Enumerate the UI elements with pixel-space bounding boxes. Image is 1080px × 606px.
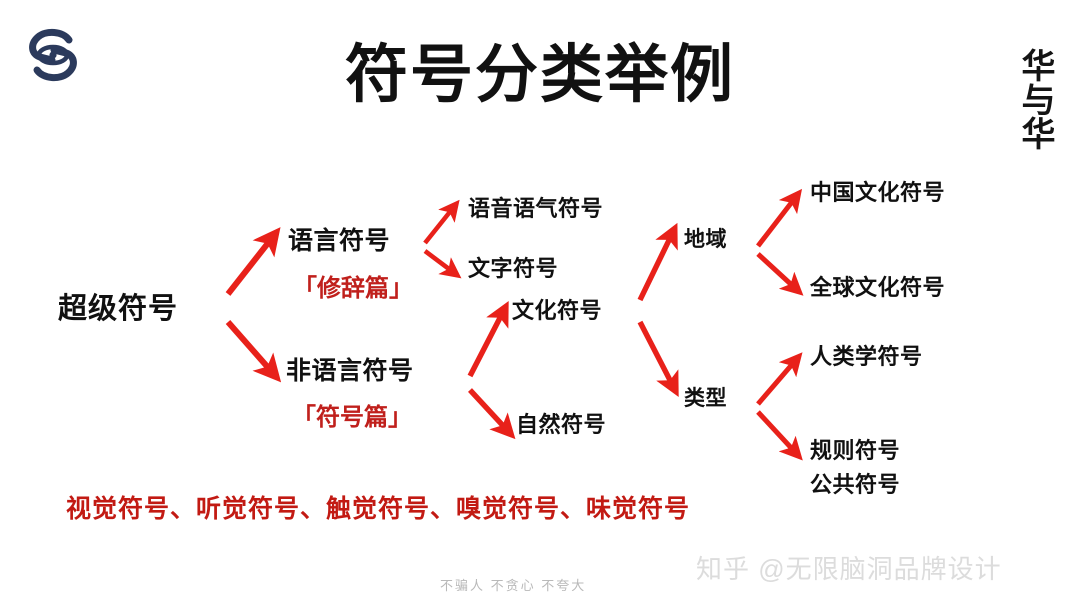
node-cultural-symbol[interactable]: 文化符号 bbox=[512, 298, 602, 324]
node-rule-symbol[interactable]: 规则符号 bbox=[810, 438, 900, 464]
watermark: 知乎 @无限脑洞品牌设计 bbox=[696, 549, 1002, 586]
node-root[interactable]: 超级符号 bbox=[58, 292, 178, 326]
node-type[interactable]: 类型 bbox=[684, 387, 727, 412]
node-written-symbol[interactable]: 文字符号 bbox=[468, 256, 558, 282]
footer-slogan: 不骗人 不贪心 不夸大 bbox=[440, 575, 586, 594]
sensory-symbols-line: 视觉符号、听觉符号、触觉符号、嗅觉符号、味觉符号 bbox=[66, 489, 690, 525]
node-global-cultural-symbol[interactable]: 全球文化符号 bbox=[810, 275, 945, 301]
node-nonlinguistic-symbol-subtitle: 「符号篇」 bbox=[292, 397, 412, 432]
node-anthropological-symbol[interactable]: 人类学符号 bbox=[810, 344, 923, 370]
node-public-symbol[interactable]: 公共符号 bbox=[810, 472, 900, 498]
node-region[interactable]: 地域 bbox=[684, 228, 727, 253]
node-chinese-cultural-symbol[interactable]: 中国文化符号 bbox=[810, 180, 945, 206]
node-linguistic-symbol[interactable]: 语言符号 bbox=[288, 227, 390, 257]
node-nonlinguistic-symbol[interactable]: 非语言符号 bbox=[286, 357, 414, 387]
node-phonetic-tone-symbol[interactable]: 语音语气符号 bbox=[468, 196, 603, 222]
slide-canvas: 华与华 符号分类举例 bbox=[0, 0, 1080, 606]
node-linguistic-symbol-subtitle: 「修辞篇」 bbox=[293, 268, 413, 303]
node-natural-symbol[interactable]: 自然符号 bbox=[516, 412, 606, 438]
page-title: 符号分类举例 bbox=[0, 44, 1080, 107]
